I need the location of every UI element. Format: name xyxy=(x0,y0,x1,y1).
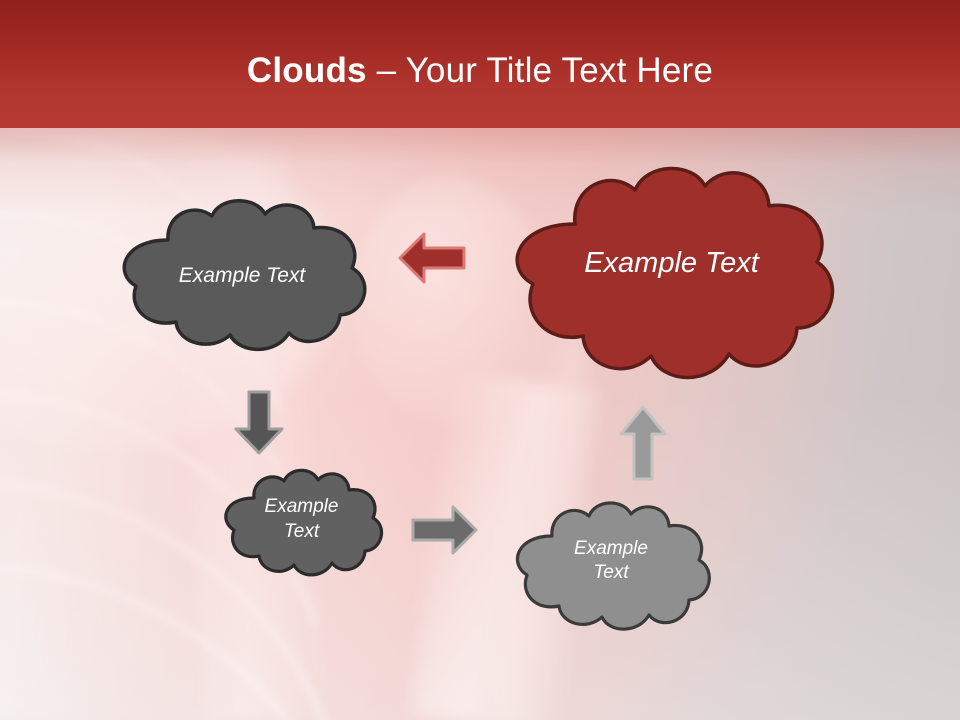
arrow-left-icon[interactable] xyxy=(398,229,466,287)
page-title-strong: Clouds xyxy=(247,51,367,90)
cloud-shape-upper-left[interactable]: Example Text xyxy=(108,194,376,359)
cloud-shape-lower-left[interactable]: Example Text xyxy=(216,466,387,581)
arrow-right-icon[interactable] xyxy=(410,504,478,556)
page-title-rest: – Your Title Text Here xyxy=(367,51,713,90)
arrow-down-icon[interactable] xyxy=(233,389,285,455)
page-title: Clouds – Your Title Text Here xyxy=(247,51,713,91)
arrow-up-icon[interactable] xyxy=(619,404,667,482)
title-bar: Clouds – Your Title Text Here xyxy=(0,0,960,128)
cloud-shape-upper-right[interactable]: Example Text xyxy=(499,160,844,388)
cloud-shape-lower-right[interactable]: Example Text xyxy=(506,497,716,637)
slide-canvas: Clouds – Your Title Text Here Example Te… xyxy=(0,0,960,720)
